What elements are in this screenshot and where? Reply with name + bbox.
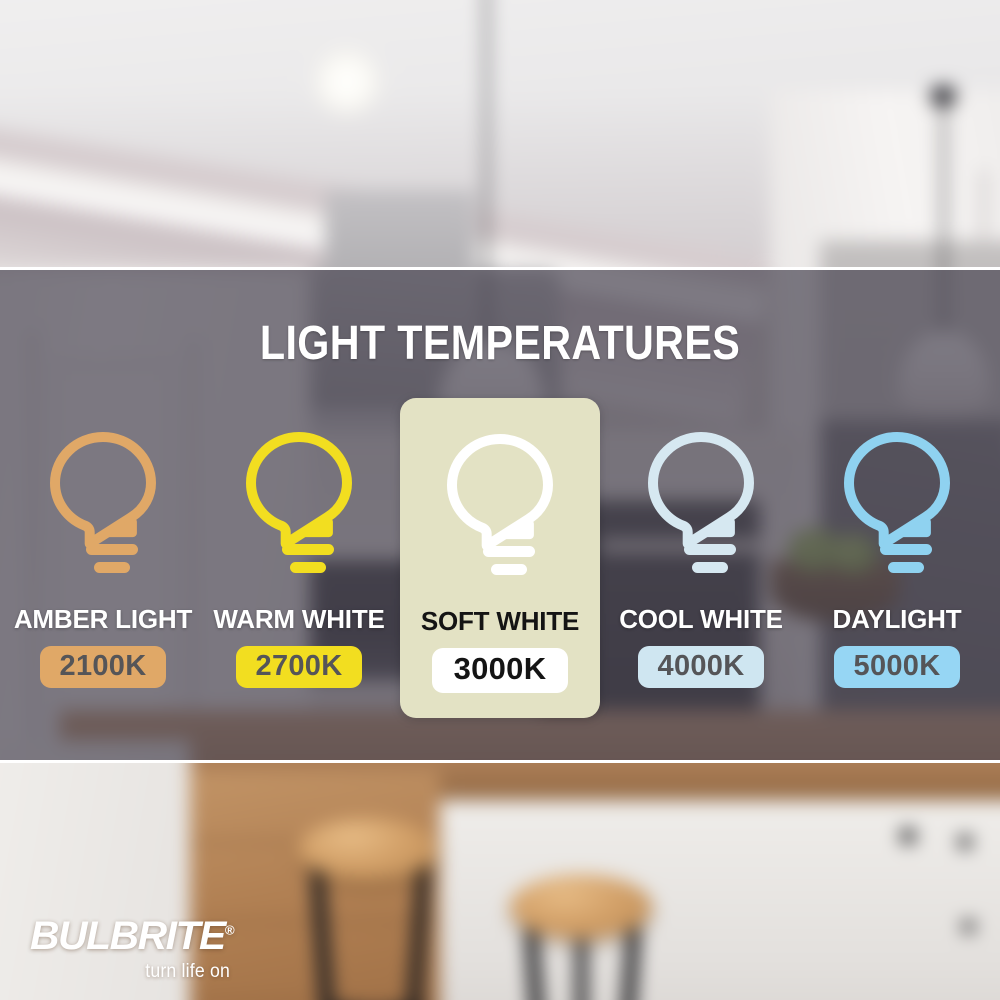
lightbulb-icon: [833, 428, 961, 586]
temperature-name: WARM WHITE: [213, 604, 384, 635]
temperature-card-amber-light[interactable]: AMBER LIGHT 2100K: [8, 398, 198, 688]
stool-seat: [510, 875, 652, 939]
lightbulb-icon: [235, 428, 363, 586]
brand-tagline: turn life on: [44, 961, 230, 983]
temperature-card-warm-white[interactable]: WARM WHITE 2700K: [204, 398, 394, 688]
kelvin-badge: 5000K: [834, 646, 961, 688]
temperature-name: DAYLIGHT: [833, 604, 962, 635]
temperature-card-soft-white-featured[interactable]: SOFT WHITE 3000K: [400, 398, 600, 718]
lightbulb-icon: [637, 428, 765, 586]
lightbulb-icon: [436, 430, 564, 588]
stool-seat: [298, 818, 438, 880]
lightbulb-icon: [39, 428, 167, 586]
brand-name: BULBRITE: [30, 914, 225, 958]
temperature-card-cool-white[interactable]: COOL WHITE 4000K: [606, 398, 796, 688]
kelvin-badge: 2100K: [40, 646, 167, 688]
brand-wordmark: BULBRITE®: [30, 916, 295, 956]
page-title: LIGHT TEMPERATURES: [70, 316, 930, 371]
divider-bottom: [0, 760, 1000, 763]
cabinet-knob: [962, 920, 975, 933]
kelvin-badge: 2700K: [236, 646, 363, 688]
temperature-card-daylight[interactable]: DAYLIGHT 5000K: [802, 398, 992, 688]
temperature-name: COOL WHITE: [619, 604, 783, 635]
kelvin-badge: 3000K: [432, 648, 569, 693]
temperature-name: SOFT WHITE: [421, 606, 579, 637]
temperature-card-list: AMBER LIGHT 2100K WARM WHITE 2700K: [0, 398, 1000, 723]
temperature-name: AMBER LIGHT: [14, 604, 192, 635]
cabinet-knob: [958, 835, 972, 849]
divider-top: [0, 267, 1000, 270]
infographic-canvas: LIGHT TEMPERATURES AMBER LIGHT 2100K: [0, 0, 1000, 1000]
recessed-light-icon: [310, 45, 384, 119]
brand-logo: BULBRITE® turn life on: [30, 916, 290, 983]
registered-trademark-icon: ®: [225, 923, 235, 938]
kelvin-badge: 4000K: [638, 646, 765, 688]
cabinet-knob: [900, 828, 916, 844]
